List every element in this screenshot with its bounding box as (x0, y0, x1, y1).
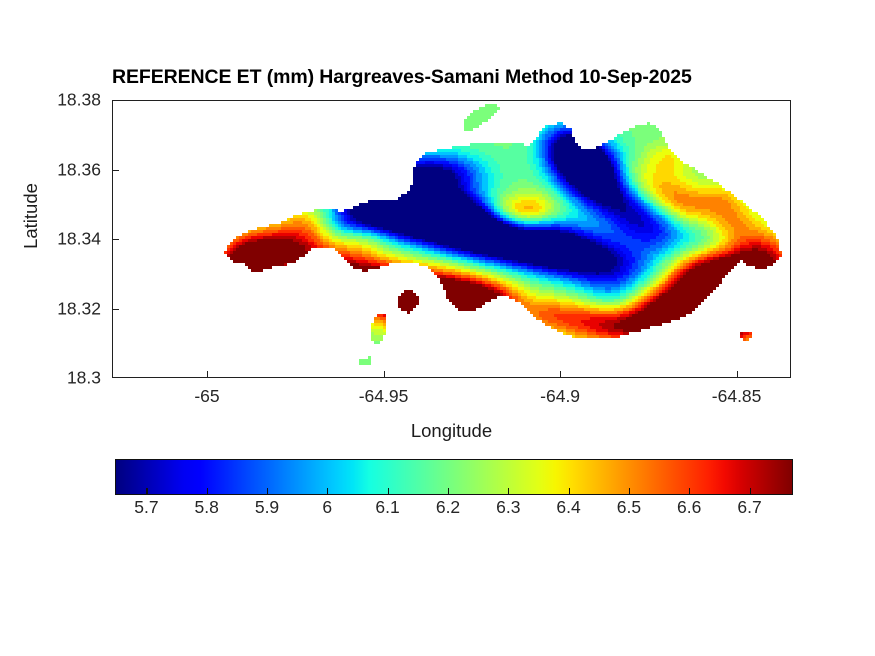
x-tick-label: -64.9 (540, 386, 580, 407)
colorbar-tick (146, 488, 147, 495)
colorbar-tick-label: 5.7 (134, 497, 158, 518)
colorbar-tick-label: 6.2 (436, 497, 460, 518)
x-tick (560, 371, 561, 378)
colorbar-tick-label: 6.7 (737, 497, 761, 518)
colorbar-tick-label: 6.1 (375, 497, 399, 518)
colorbar-tick (508, 488, 509, 495)
y-tick-label: 18.38 (0, 90, 101, 111)
x-tick (384, 371, 385, 378)
y-tick (112, 239, 119, 240)
colorbar-tick (267, 488, 268, 495)
y-tick (112, 170, 119, 171)
chart-title: REFERENCE ET (mm) Hargreaves-Samani Meth… (112, 66, 812, 89)
y-tick-label: 18.32 (0, 298, 101, 319)
colorbar-tick (327, 488, 328, 495)
x-tick-label: -65 (194, 386, 219, 407)
colorbar-tick-label: 6.5 (617, 497, 641, 518)
colorbar: 5.75.85.966.16.26.36.46.56.66.7 (115, 459, 793, 497)
colorbar-tick (569, 488, 570, 495)
colorbar-tick-label: 6.6 (677, 497, 701, 518)
map-axes (112, 100, 791, 378)
x-tick (207, 371, 208, 378)
colorbar-tick (388, 488, 389, 495)
et-heatmap (113, 101, 790, 377)
colorbar-tick-label: 5.9 (255, 497, 279, 518)
y-tick-label: 18.3 (0, 368, 101, 389)
y-tick-label: 18.34 (0, 229, 101, 250)
colorbar-tick (689, 488, 690, 495)
y-tick-label: 18.36 (0, 159, 101, 180)
x-tick-label: -64.95 (359, 386, 409, 407)
colorbar-tick (629, 488, 630, 495)
x-tick-label: -64.85 (712, 386, 762, 407)
colorbar-tick (750, 488, 751, 495)
colorbar-tick-label: 5.8 (195, 497, 219, 518)
x-axis-title: Longitude (112, 420, 791, 442)
colorbar-tick-label: 6.3 (496, 497, 520, 518)
colorbar-gradient (115, 459, 793, 495)
colorbar-tick-label: 6 (322, 497, 332, 518)
colorbar-tick-label: 6.4 (556, 497, 580, 518)
colorbar-tick (448, 488, 449, 495)
y-axis-title: Latitude (20, 166, 42, 266)
figure-canvas: REFERENCE ET (mm) Hargreaves-Samani Meth… (0, 0, 875, 656)
y-tick (112, 309, 119, 310)
colorbar-tick (207, 488, 208, 495)
x-tick (737, 371, 738, 378)
